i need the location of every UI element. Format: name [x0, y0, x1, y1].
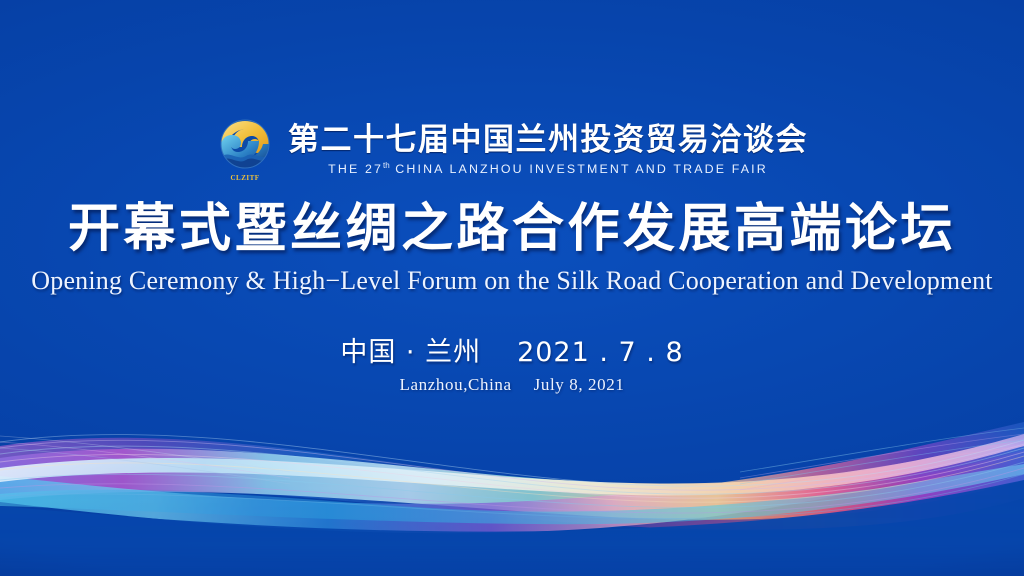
swirl-wave-circle-icon: [216, 118, 274, 174]
event-backdrop-poster: CLZITF 第二十七届中国兰州投资贸易洽谈会 THE 27th CHINA L…: [0, 0, 1024, 576]
clzitf-logo: CLZITF: [216, 118, 274, 182]
event-date-chinese: 2021 . 7 . 8: [517, 337, 684, 368]
fair-name-english-prefix: THE 27: [328, 162, 383, 176]
event-title-english: Opening Ceremony & High−Level Forum on t…: [0, 266, 1024, 296]
fair-name-block: 第二十七届中国兰州投资贸易洽谈会 THE 27th CHINA LANZHOU …: [288, 124, 808, 176]
event-title-chinese: 开幕式暨丝绸之路合作发展高端论坛: [0, 200, 1024, 258]
wave-ribbons-svg: [0, 376, 1024, 576]
rainbow-ribbon-waves-graphic: [0, 376, 1024, 576]
fair-name-english-suffix: CHINA LANZHOU INVESTMENT AND TRADE FAIR: [395, 162, 768, 176]
fair-name-english-ordinal: th: [383, 161, 390, 170]
logo-abbreviation: CLZITF: [216, 174, 274, 182]
event-location-chinese: 中国 · 兰州: [340, 337, 481, 368]
event-meta-primary-row: 中国 · 兰州2021 . 7 . 8: [0, 330, 1024, 369]
fair-branding-lockup: CLZITF 第二十七届中国兰州投资贸易洽谈会 THE 27th CHINA L…: [0, 118, 1024, 182]
fair-name-english: THE 27th CHINA LANZHOU INVESTMENT AND TR…: [288, 161, 808, 176]
fair-name-chinese: 第二十七届中国兰州投资贸易洽谈会: [288, 124, 808, 157]
